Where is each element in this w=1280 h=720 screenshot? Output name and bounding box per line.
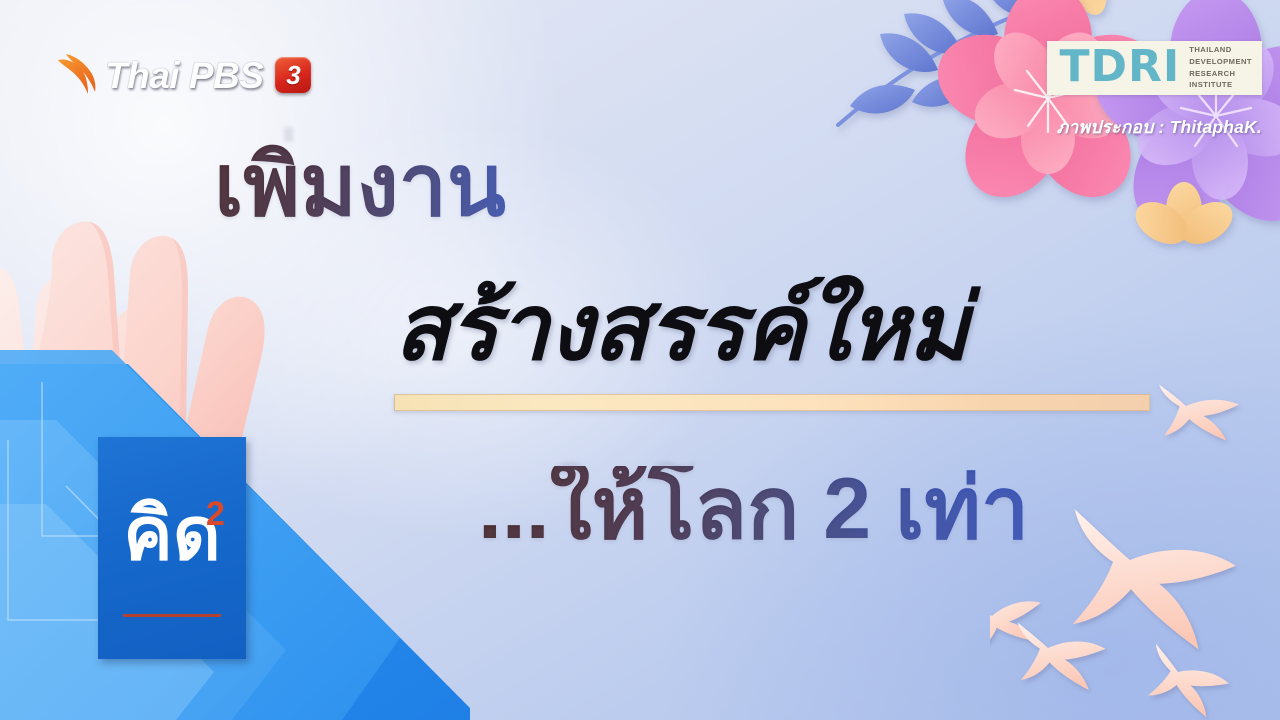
program-logo-superscript: 2 (206, 497, 225, 531)
headline-line-1: เพิ่มงาน (214, 143, 506, 229)
headline-line-2: สร้างสรรค์ใหม่ (394, 282, 968, 374)
thai-pbs-logo: Thai PBS 3 (56, 52, 311, 98)
tdri-name-line-1: THAILAND (1189, 44, 1252, 56)
tdri-name-line-3: RESEARCH (1189, 68, 1252, 80)
thai-pbs-bird-swoosh-icon (56, 52, 96, 98)
channel-number-badge: 3 (275, 57, 311, 93)
headline-line-3: ...ให้โลก 2 เท่า (478, 466, 1029, 552)
illustration-credit: ภาพประกอบ : ThitaphaK. (1057, 113, 1262, 141)
tdri-name-line-4: INSTITUTE (1189, 79, 1252, 91)
program-logo-kid-squared: คิด 2 (98, 437, 246, 659)
thai-pbs-wordmark: Thai PBS (105, 57, 263, 94)
headline-divider-rule (394, 394, 1150, 411)
tdri-full-name: THAILAND DEVELOPMENT RESEARCH INSTITUTE (1189, 44, 1252, 91)
tdri-acronym: TDRI (1059, 47, 1180, 87)
tdri-logo: TDRI THAILAND DEVELOPMENT RESEARCH INSTI… (1047, 41, 1262, 95)
broadcast-graphic-frame: Thai PBS 3 TDRI THAILAND DEVELOPMENT RES… (0, 0, 1280, 720)
program-logo-underline (123, 614, 221, 617)
tdri-name-line-2: DEVELOPMENT (1189, 56, 1252, 68)
